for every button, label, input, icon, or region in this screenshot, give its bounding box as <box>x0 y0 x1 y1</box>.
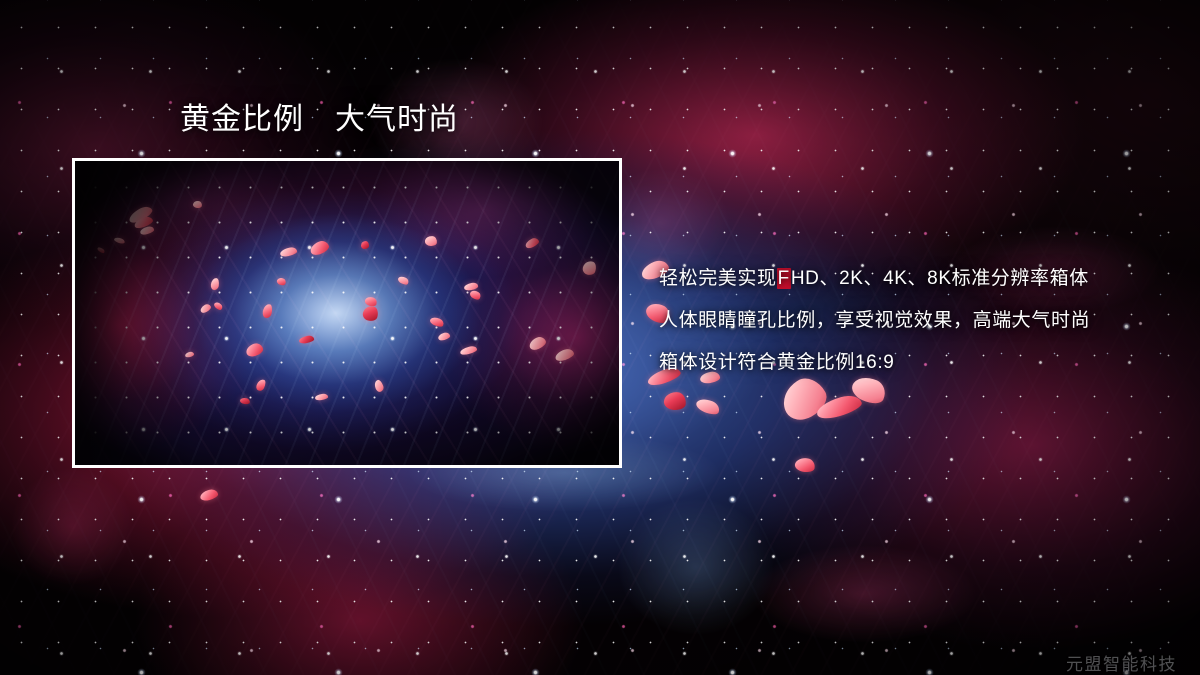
body-line-3-prefix: 箱体设计符合黄金比例16:9 <box>659 352 894 373</box>
body-line-1-highlight: F <box>777 268 791 289</box>
watermark: 元盟智能科技 <box>1066 650 1177 675</box>
presentation-slide: 黄金比例 大气时尚 轻松完美实现FHD、2K、4K、8K标准分辨率箱体 人体眼睛… <box>0 0 1200 675</box>
photo-inner <box>75 161 619 465</box>
body-line-1-prefix: 轻松完美实现 <box>659 268 777 289</box>
body-text-block: 轻松完美实现FHD、2K、4K、8K标准分辨率箱体 人体眼睛瞳孔比例，享受视觉效… <box>659 258 1179 384</box>
framed-photo <box>72 158 622 468</box>
petal <box>199 488 219 502</box>
body-line-2: 人体眼睛瞳孔比例，享受视觉效果，高端大气时尚 <box>659 300 1179 342</box>
body-line-3: 箱体设计符合黄金比例16:9 <box>659 342 1179 384</box>
petal <box>663 391 687 411</box>
body-line-1-suffix: HD、2K、4K、8K标准分辨率箱体 <box>791 268 1089 289</box>
petal <box>694 396 721 417</box>
body-line-2-prefix: 人体眼睛瞳孔比例，享受视觉效果，高端大气时尚 <box>659 310 1090 331</box>
page-title: 黄金比例 大气时尚 <box>180 101 459 139</box>
photo-vignette <box>75 161 619 465</box>
body-line-1: 轻松完美实现FHD、2K、4K、8K标准分辨率箱体 <box>659 258 1179 300</box>
petal <box>794 456 816 473</box>
